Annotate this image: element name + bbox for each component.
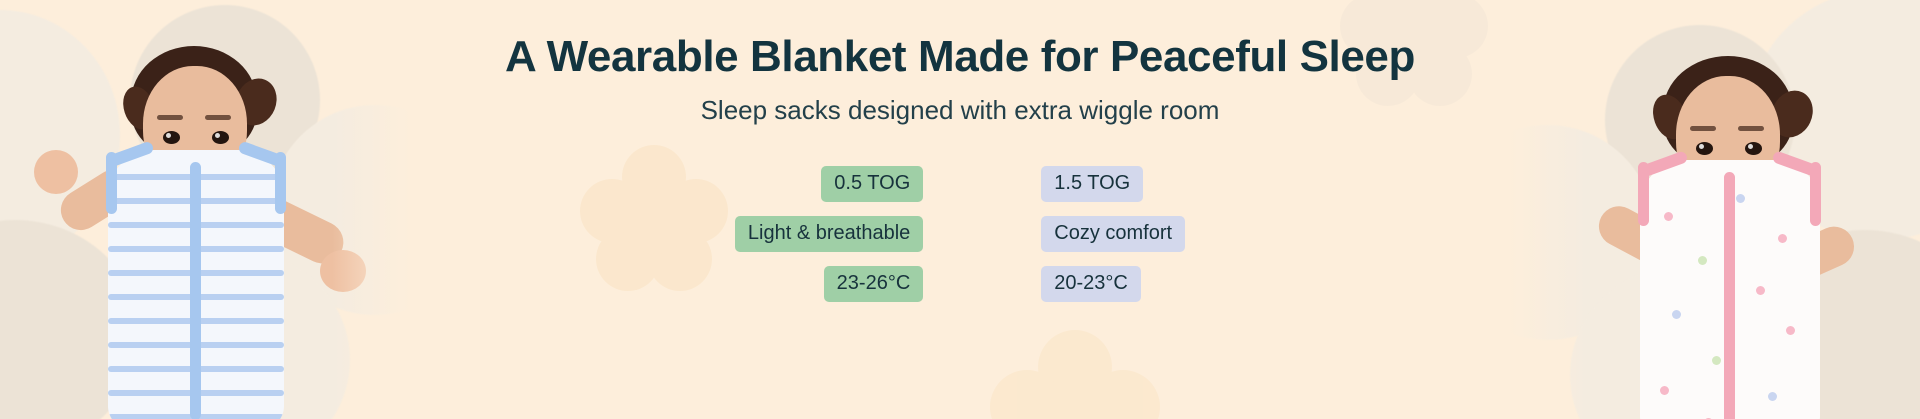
sleep-sack-zipper [190,162,201,419]
sleep-sack-armhole-trim [1810,162,1821,226]
photo-right-baby-pink-sleep-sack [1500,0,1920,419]
baby-eyebrow [157,115,183,120]
tog-temperature-badge-cozy: 20-23°C [1041,266,1141,302]
baby-eyebrow [1690,126,1716,131]
tog-rating-badge-light: 0.5 TOG [821,166,923,202]
fabric-dot [1736,194,1745,203]
tog-feature-badge-light: Light & breathable [735,216,923,252]
sleep-sack-armhole-trim [1638,162,1649,226]
banner-subheadline: Sleep sacks designed with extra wiggle r… [701,95,1220,126]
sleep-sack-armhole-trim [106,152,117,214]
baby-eye [163,131,180,144]
fabric-dot [1664,212,1673,221]
fabric-dot [1698,256,1707,265]
fabric-dot [1786,326,1795,335]
banner-headline: A Wearable Blanket Made for Peaceful Sle… [505,32,1415,83]
fabric-dot [1768,392,1777,401]
photo-left-fade [332,0,420,419]
baby-eye [212,131,229,144]
baby-eye [1696,142,1713,155]
photo-right-fade [1500,0,1588,419]
tog-temperature-badge-light: 23-26°C [824,266,924,302]
tog-column-light: 0.5 TOG Light & breathable 23-26°C [735,166,923,302]
sleep-sack-zipper [1724,172,1735,419]
fabric-dot [1756,286,1765,295]
tog-comparison-grid: 0.5 TOG Light & breathable 23-26°C 1.5 T… [735,166,1185,302]
baby-eyebrow [205,115,231,120]
tog-feature-badge-cozy: Cozy comfort [1041,216,1185,252]
sleep-sack-armhole-trim [275,152,286,214]
baby-eyebrow [1738,126,1764,131]
baby-eye [1745,142,1762,155]
fabric-dot [1712,356,1721,365]
fabric-dot [1672,310,1681,319]
fabric-dot [1778,234,1787,243]
tog-rating-badge-cozy: 1.5 TOG [1041,166,1143,202]
baby-hand [34,150,78,194]
promo-banner: A Wearable Blanket Made for Peaceful Sle… [0,0,1920,419]
fabric-dot [1660,386,1669,395]
banner-content: A Wearable Blanket Made for Peaceful Sle… [420,0,1500,419]
photo-left-baby-blue-sleep-sack [0,0,420,419]
tog-column-cozy: 1.5 TOG Cozy comfort 20-23°C [1041,166,1185,302]
